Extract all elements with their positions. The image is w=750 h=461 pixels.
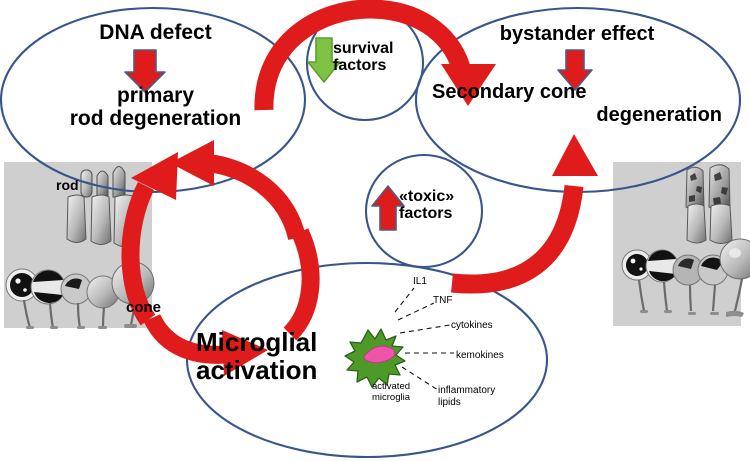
label-primary-rod-degeneration: primaryrod degeneration: [48, 85, 263, 130]
label-microglial-activation: Microglialactivation: [196, 328, 351, 384]
label-rod-cell: rod: [56, 178, 79, 193]
caption-line-2: microglia: [372, 392, 410, 403]
label-secondary-cone: Secondary cone: [432, 82, 657, 104]
label-survival-factors: survivalfactors: [333, 40, 423, 75]
mediator-kemokines: kemokines: [456, 350, 504, 361]
caption-activated-microglia: activated microglia: [350, 381, 432, 403]
label-bystander-effect: bystander effect: [462, 24, 692, 46]
mediator-cytokines: cytokines: [451, 320, 493, 331]
label-cone-cell: cone: [126, 300, 161, 316]
mediator-inflammatory-lipids: inflammatory lipids: [438, 385, 520, 408]
activated-microglia-icon: [345, 329, 405, 387]
label-activation: activation: [196, 355, 317, 385]
mediator-tnf: TNF: [433, 295, 452, 306]
label-degeneration: degeneration: [432, 105, 722, 127]
figure-canvas: DNA defect primaryrod degeneration bysta…: [0, 0, 750, 461]
label-factors: factors: [399, 205, 452, 222]
label-factors: factors: [333, 57, 386, 74]
mediator-il1: IL1: [413, 276, 427, 287]
label-rod-degeneration: rod degeneration: [70, 107, 242, 130]
label-microglial: Microglial: [196, 327, 317, 357]
caption-line-1: activated: [372, 381, 410, 392]
label-survival: survival: [333, 40, 393, 57]
label-toxic: «toxic»: [399, 188, 454, 205]
label-primary: primary: [117, 84, 194, 107]
label-toxic-factors: «toxic»factors: [399, 188, 484, 223]
label-dna-defect: DNA defect: [48, 22, 263, 45]
